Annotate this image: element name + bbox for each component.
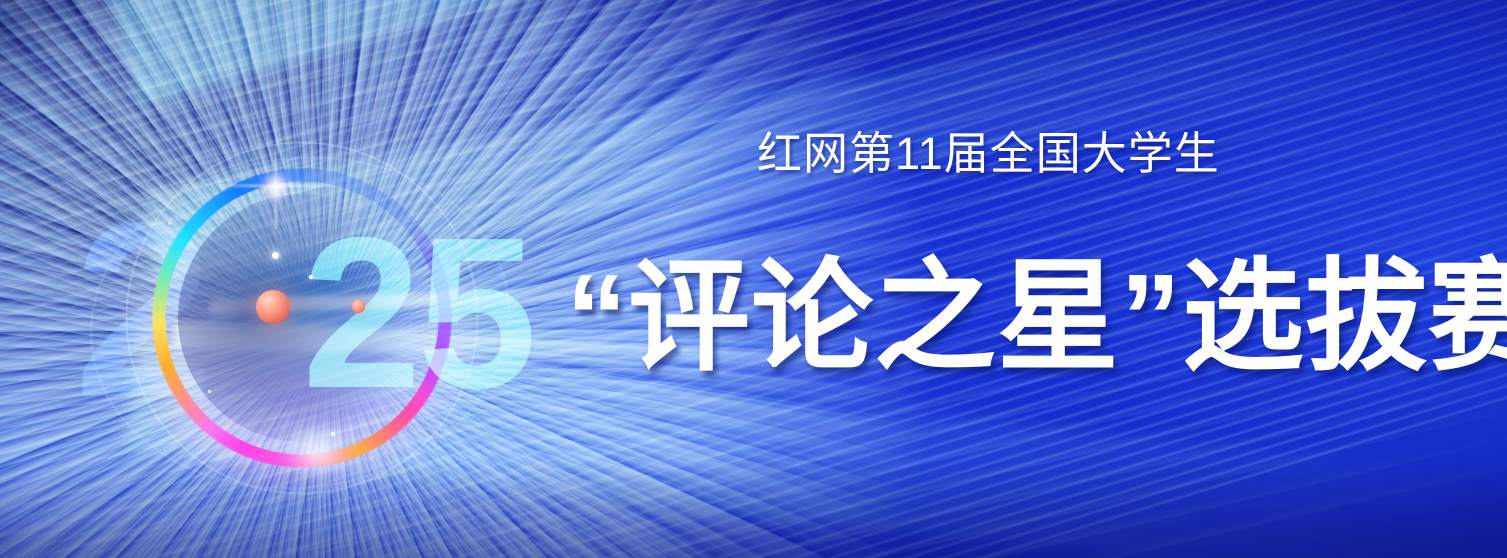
background-bottom-shadow — [0, 0, 1507, 558]
event-banner: 2 25 红网第11届全国大学生 “评论之星”选拔赛 — [0, 0, 1507, 558]
